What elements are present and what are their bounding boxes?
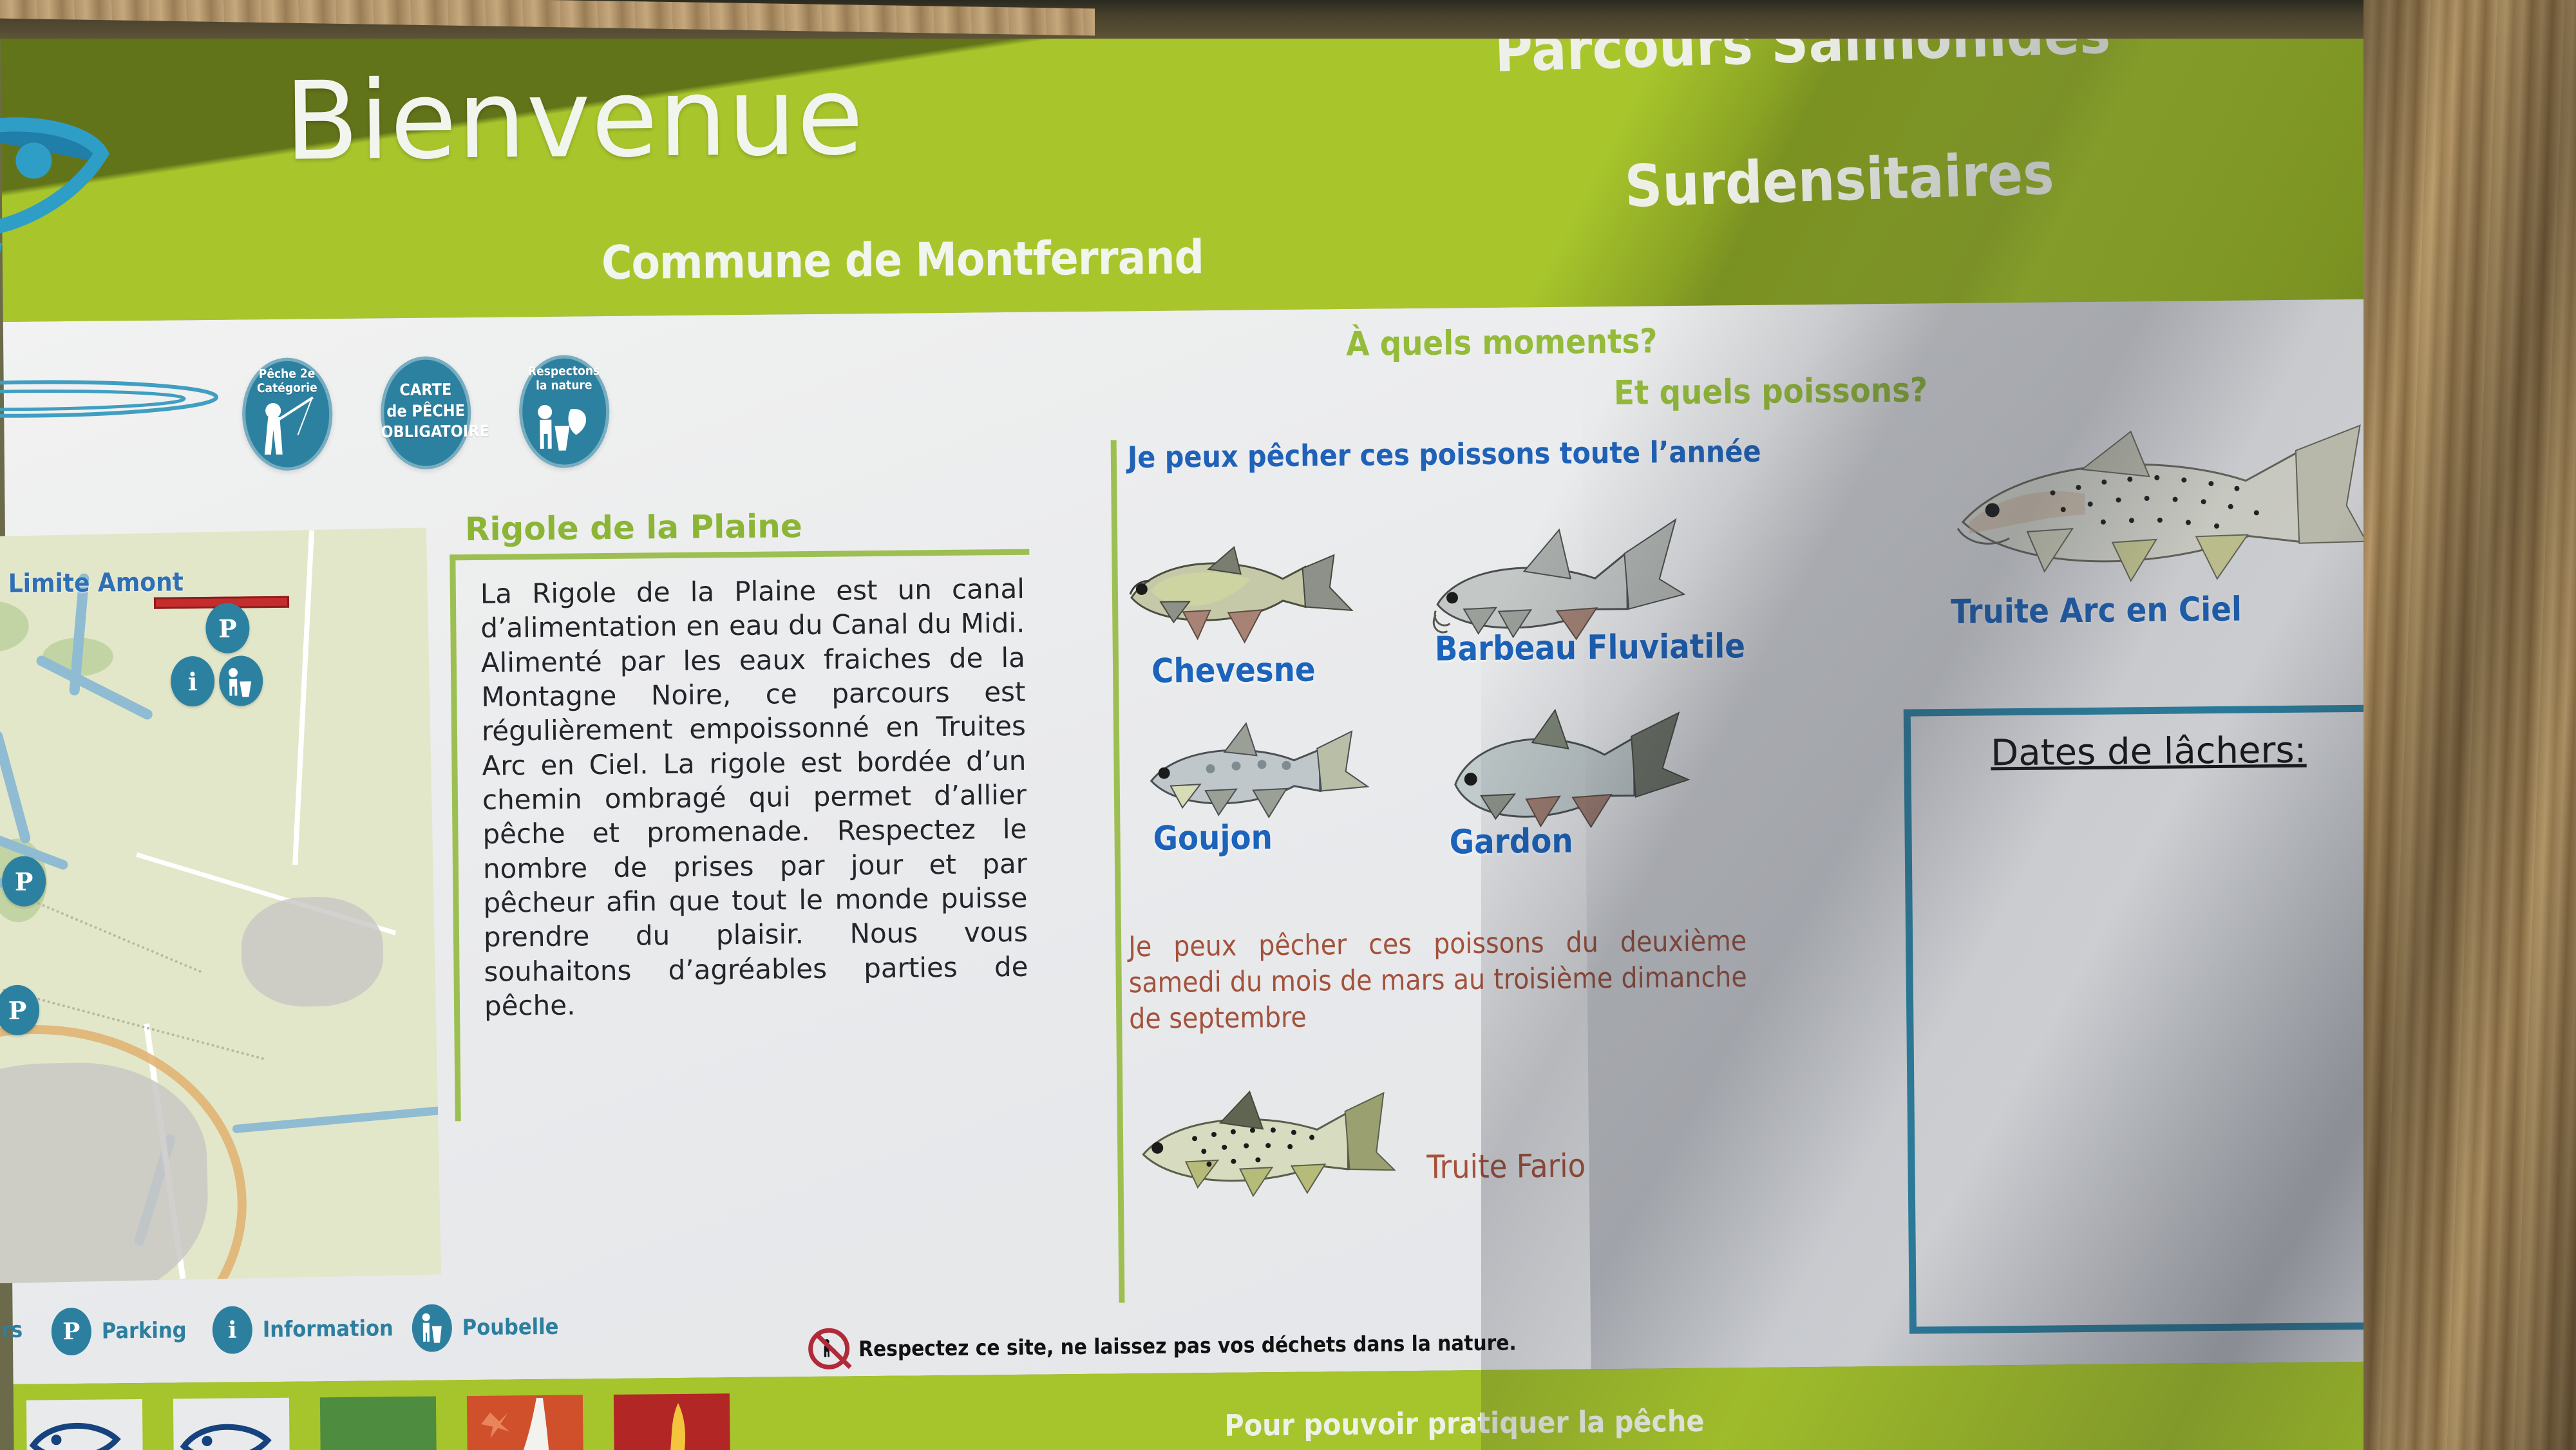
fish-logo-icon (0, 76, 151, 310)
fish-label-chevesne: Chevesne (1151, 650, 1316, 690)
map-hamlet (240, 896, 384, 1008)
fish-label-goujon: Goujon (1153, 818, 1273, 858)
goujon-fish-icon (1133, 708, 1392, 833)
logo-orange-partner (467, 1395, 583, 1450)
year-round-heading: Je peux pêcher ces poissons toute l’anné… (1128, 434, 1761, 475)
dates-de-lachers-title: Dates de lâchers: (1911, 728, 2387, 775)
question-moments: À quels moments? (1346, 322, 1658, 364)
legend-item-information[interactable]: i Information (212, 1304, 393, 1354)
chevesne-fish-icon (1112, 527, 1383, 659)
article-body: La Rigole de la Plaine est un canal d’al… (480, 572, 1029, 1023)
parcours-title-line2: Surdensitaires (1624, 140, 2054, 220)
no-littering-icon (808, 1328, 850, 1370)
logo-aappma (173, 1398, 290, 1450)
article-frame: La Rigole de la Plaine est un canal d’al… (450, 549, 1034, 1122)
parking-icon[interactable]: P (205, 603, 250, 654)
map-limite-amont-label: Limite Amont (8, 567, 184, 599)
fish-label-truite-arc-en-ciel: Truite Arc en Ciel (1951, 590, 2242, 632)
logo-red-partner (614, 1393, 730, 1450)
article-block: Rigole de la Plaine La Rigole de la Plai… (450, 505, 1035, 1122)
legend-label-parking: Parking (102, 1317, 187, 1344)
article-heading: Rigole de la Plaine (465, 505, 1030, 548)
legend-label-information: Information (263, 1315, 393, 1342)
fish-label-truite-fario: Truite Fario (1426, 1147, 1586, 1185)
badge-line1: CARTE (399, 380, 451, 399)
legend-label-poubelle: Poubelle (462, 1314, 559, 1341)
legend-prefix-fragment: rs (1, 1317, 23, 1343)
angler-icon (241, 357, 333, 471)
question-poissons: Et quels poissons? (1614, 371, 1928, 413)
legend-item-poubelle[interactable]: Poubelle (412, 1303, 558, 1352)
respect-notice-text: Respectez ce site, ne laissez pas vos dé… (858, 1330, 1517, 1361)
logo-green-partner (320, 1397, 437, 1450)
poubelle-icon (412, 1304, 452, 1352)
respect-nature-icon (518, 355, 610, 468)
parking-icon[interactable]: P (2, 856, 46, 907)
legend-item-parking[interactable]: P Parking (52, 1306, 187, 1355)
fish-label-gardon: Gardon (1449, 822, 1573, 862)
season-fishing-text: Je peux pêcher ces poissons du deuxième … (1128, 923, 1748, 1037)
information-icon[interactable]: i (171, 656, 215, 707)
information-icon: i (212, 1306, 252, 1354)
badge-line2: de PÊCHE (386, 401, 465, 420)
page-title: Bienvenue (284, 53, 865, 185)
badge-respectons-la-nature[interactable]: Respectons la nature (518, 355, 610, 468)
information-panel: Bienvenue Commune de Montferrand Parcour… (0, 0, 2396, 1450)
gardon-fish-icon (1435, 699, 1707, 836)
badge-carte-peche-obligatoire[interactable]: CARTE de PÊCHE OBLIGATOIRE (380, 356, 471, 469)
badge-peche-2e-categorie[interactable]: Pêche 2e Catégorie (241, 357, 333, 471)
parking-icon: P (52, 1308, 92, 1356)
truite-arc-en-ciel-fish-icon (1929, 415, 2369, 613)
dates-de-lachers-box[interactable]: Dates de lâchers: (1904, 704, 2399, 1333)
badge-line3: OBLIGATOIRE (381, 422, 489, 442)
truite-fario-fish-icon (1123, 1081, 1408, 1212)
sign-photo: Bienvenue Commune de Montferrand Parcour… (0, 0, 2576, 1450)
poubelle-icon[interactable] (219, 655, 263, 706)
logo-federation-peche (26, 1399, 143, 1450)
footer-text: Pour pouvoir pratiquer la pêche (1224, 1404, 1705, 1443)
respect-notice: Respectez ce site, ne laissez pas vos dé… (808, 1321, 1517, 1370)
partner-logos (26, 1393, 730, 1450)
wooden-post (2363, 0, 2576, 1450)
commune-subtitle: Commune de Montferrand (601, 230, 1204, 290)
fish-label-barbeau-fluviatile: Barbeau Fluviatile (1434, 627, 1745, 669)
